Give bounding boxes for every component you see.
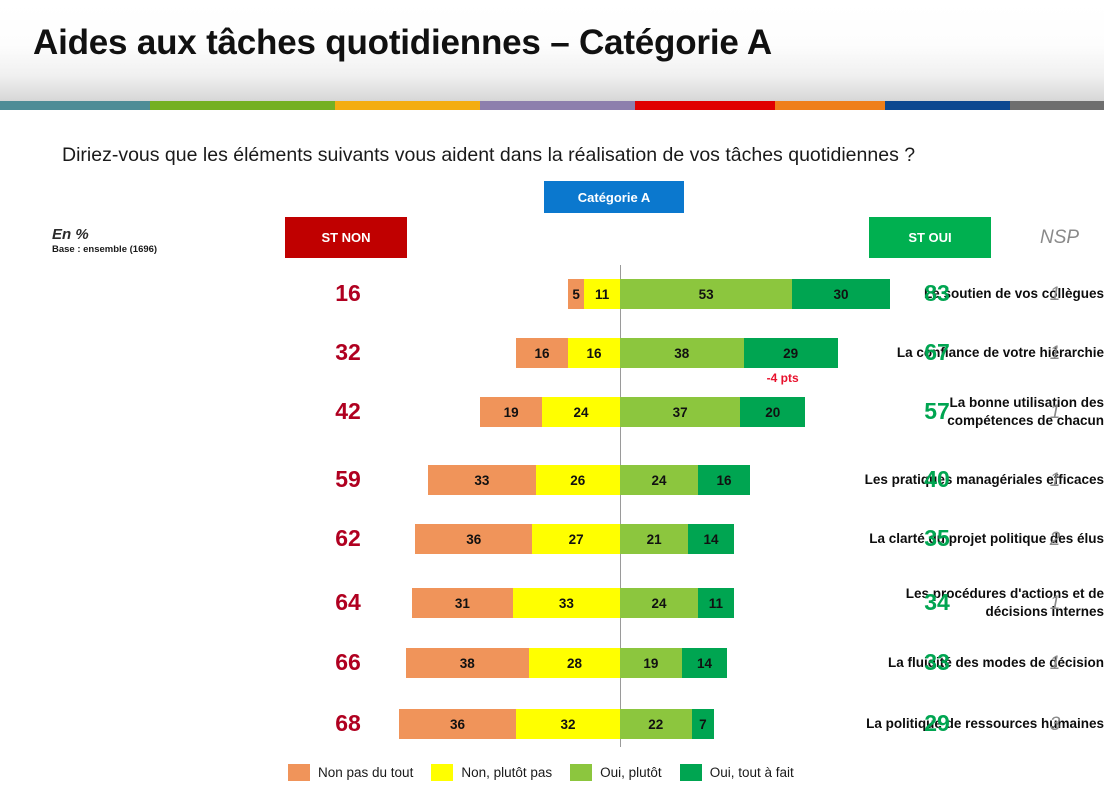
- accent-segment-grey: [1010, 101, 1104, 110]
- stacked-bar: 3632227: [399, 709, 714, 739]
- header-accent-bar: [0, 101, 1104, 110]
- nsp-value: 1: [1040, 402, 1070, 424]
- category-badge: Catégorie A: [544, 181, 684, 213]
- accent-segment-orange: [775, 101, 885, 110]
- stacked-bar: 31332411: [412, 588, 734, 618]
- nsp-value: 1: [1040, 593, 1070, 615]
- stacked-bar: 36272114: [415, 524, 734, 554]
- legend-swatch-non-plutot-pas: [431, 764, 453, 781]
- legend-item: Non, plutôt pas: [431, 764, 552, 781]
- stacked-bar: 16163829: [516, 338, 838, 368]
- nsp-value: 3: [1040, 714, 1070, 736]
- accent-segment-amber: [335, 101, 480, 110]
- st-non-value: 42: [325, 398, 371, 425]
- bar-segment-non-pas-du-tout: 31: [412, 588, 513, 618]
- legend-label: Oui, tout à fait: [710, 765, 794, 780]
- bar-segment-non-plutot-pas: 27: [532, 524, 620, 554]
- legend-swatch-non-pas-du-tout: [288, 764, 310, 781]
- bar-segment-non-pas-du-tout: 5: [568, 279, 584, 309]
- st-oui-value: 34: [912, 589, 962, 616]
- accent-segment-blue: [885, 101, 1010, 110]
- bar-segment-non-plutot-pas: 33: [513, 588, 620, 618]
- legend-label: Oui, plutôt: [600, 765, 662, 780]
- nsp-value: 2: [1040, 529, 1070, 551]
- bar-segment-non-pas-du-tout: 36: [415, 524, 532, 554]
- legend-item: Oui, plutôt: [570, 764, 662, 781]
- legend-label: Non pas du tout: [318, 765, 413, 780]
- bar-segment-oui-plutot: 53: [620, 279, 792, 309]
- legend-item: Oui, tout à fait: [680, 764, 794, 781]
- bar-segment-oui-plutot: 24: [620, 588, 698, 618]
- bar-segment-oui-plutot: 21: [620, 524, 688, 554]
- st-oui-value: 35: [912, 525, 962, 552]
- legend-swatch-oui-tout-a-fait: [680, 764, 702, 781]
- nsp-header-label: NSP: [1040, 227, 1079, 249]
- st-non-value: 66: [325, 649, 371, 676]
- accent-segment-teal: [0, 101, 150, 110]
- stacked-bar: 33262416: [428, 465, 750, 495]
- bar-segment-oui-tout-a-fait: 20: [740, 397, 805, 427]
- st-non-value: 64: [325, 589, 371, 616]
- bar-segment-oui-tout-a-fait: 29: [744, 338, 838, 368]
- st-oui-value: 33: [912, 649, 962, 676]
- bar-segment-oui-tout-a-fait: 7: [692, 709, 715, 739]
- unit-label: En %: [52, 226, 89, 243]
- bar-segment-oui-tout-a-fait: 14: [688, 524, 734, 554]
- legend-label: Non, plutôt pas: [461, 765, 552, 780]
- nsp-value: 1: [1040, 653, 1070, 675]
- st-oui-value: 83: [912, 280, 962, 307]
- bar-segment-non-plutot-pas: 24: [542, 397, 620, 427]
- nsp-value: 1: [1040, 284, 1070, 306]
- bar-segment-oui-plutot: 37: [620, 397, 740, 427]
- stacked-bar: 5115330: [568, 279, 890, 309]
- bar-segment-oui-tout-a-fait: 11: [698, 588, 734, 618]
- chart-legend: Non pas du toutNon, plutôt pasOui, plutô…: [288, 762, 812, 782]
- accent-segment-green: [150, 101, 335, 110]
- bar-segment-non-pas-du-tout: 38: [406, 648, 530, 678]
- base-label: Base : ensemble (1696): [52, 244, 157, 255]
- st-non-value: 62: [325, 525, 371, 552]
- accent-segment-purple: [480, 101, 635, 110]
- slide-header: Aides aux tâches quotidiennes – Catégori…: [0, 0, 1104, 104]
- bar-segment-oui-tout-a-fait: 16: [698, 465, 750, 495]
- st-oui-value: 67: [912, 339, 962, 366]
- stacked-bar: 19243720: [480, 397, 805, 427]
- bar-segment-oui-plutot: 24: [620, 465, 698, 495]
- st-non-value: 32: [325, 339, 371, 366]
- st-non-value: 68: [325, 710, 371, 737]
- st-non-value: 16: [325, 280, 371, 307]
- st-oui-header-badge: ST OUI: [869, 217, 991, 258]
- bar-segment-non-pas-du-tout: 33: [428, 465, 535, 495]
- bar-segment-non-pas-du-tout: 36: [399, 709, 516, 739]
- bar-segment-non-plutot-pas: 28: [529, 648, 620, 678]
- stacked-bar: 38281914: [406, 648, 728, 678]
- legend-swatch-oui-plutot: [570, 764, 592, 781]
- bar-segment-oui-tout-a-fait: 14: [682, 648, 728, 678]
- bar-segment-oui-plutot: 38: [620, 338, 744, 368]
- nsp-value: 1: [1040, 470, 1070, 492]
- bar-segment-oui-plutot: 22: [620, 709, 692, 739]
- st-non-value: 59: [325, 466, 371, 493]
- st-non-header-badge: ST NON: [285, 217, 407, 258]
- st-oui-value: 57: [912, 398, 962, 425]
- bar-segment-oui-plutot: 19: [620, 648, 682, 678]
- bar-segment-non-plutot-pas: 32: [516, 709, 620, 739]
- bar-segment-non-plutot-pas: 11: [584, 279, 620, 309]
- bar-segment-non-plutot-pas: 26: [536, 465, 621, 495]
- bar-segment-non-pas-du-tout: 16: [516, 338, 568, 368]
- delta-annotation: -4 pts: [767, 371, 799, 385]
- question-text: Diriez-vous que les éléments suivants vo…: [62, 140, 1042, 171]
- bar-segment-non-pas-du-tout: 19: [480, 397, 542, 427]
- accent-segment-red: [635, 101, 775, 110]
- nsp-value: 1: [1040, 343, 1070, 365]
- st-oui-value: 40: [912, 466, 962, 493]
- legend-item: Non pas du tout: [288, 764, 413, 781]
- st-oui-value: 29: [912, 710, 962, 737]
- bar-segment-non-plutot-pas: 16: [568, 338, 620, 368]
- slide-canvas: Aides aux tâches quotidiennes – Catégori…: [0, 0, 1104, 792]
- page-title: Aides aux tâches quotidiennes – Catégori…: [33, 23, 772, 63]
- bar-segment-oui-tout-a-fait: 30: [792, 279, 890, 309]
